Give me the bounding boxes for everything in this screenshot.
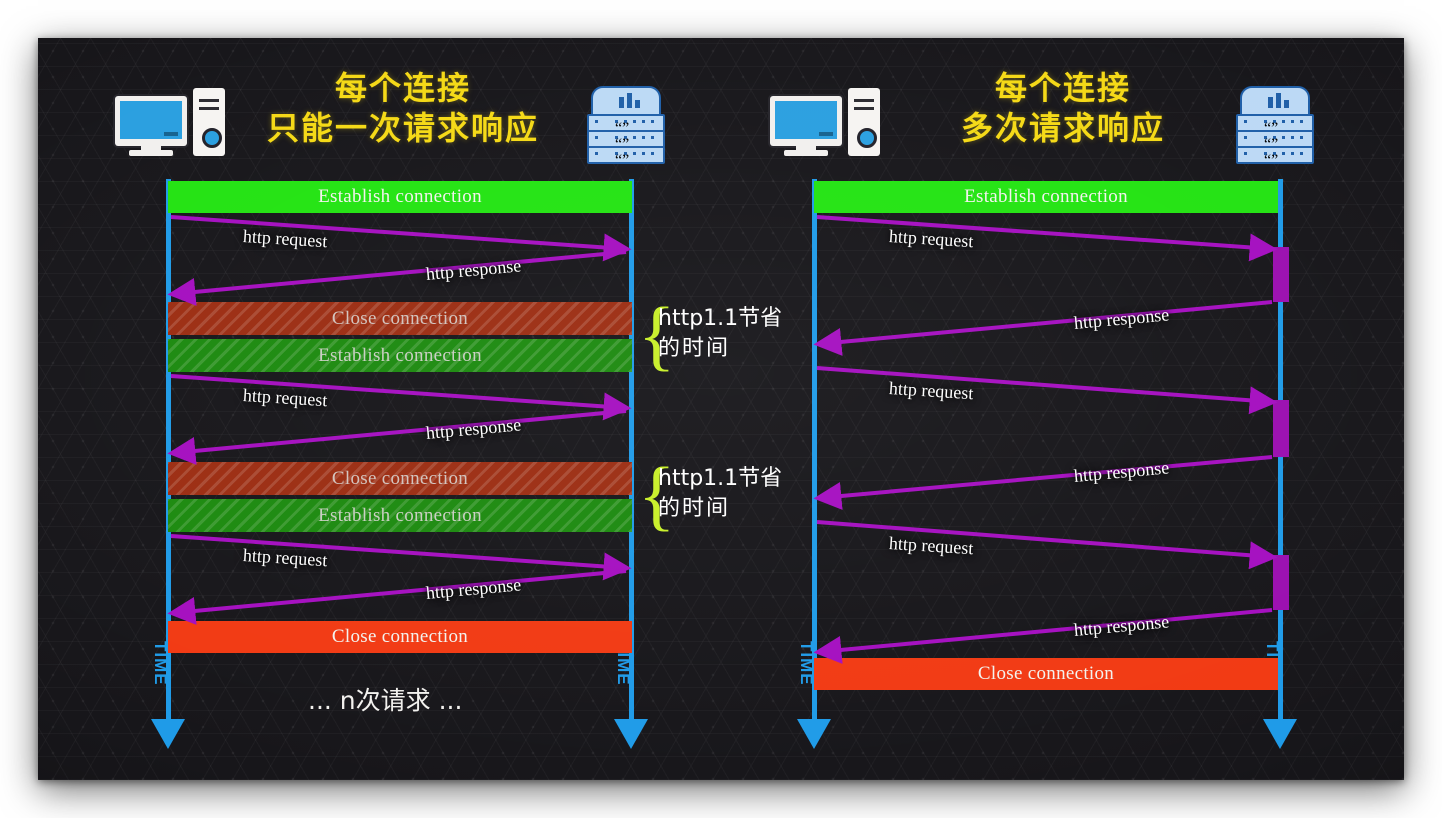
left-footer-note: ... n次请求 ... xyxy=(308,681,462,717)
left-message-arrows xyxy=(38,38,738,780)
diagram-stage: 每个连接 只能一次请求响应 TIME TIME Establish connec… xyxy=(0,0,1442,818)
left-panel: 每个连接 只能一次请求响应 TIME TIME Establish connec… xyxy=(38,38,738,780)
diagram-board: 每个连接 只能一次请求响应 TIME TIME Establish connec… xyxy=(38,38,1404,780)
right-message-arrows xyxy=(738,38,1404,780)
right-panel: 每个连接 多次请求响应 TIME TIME Establish connecti… xyxy=(738,38,1404,780)
